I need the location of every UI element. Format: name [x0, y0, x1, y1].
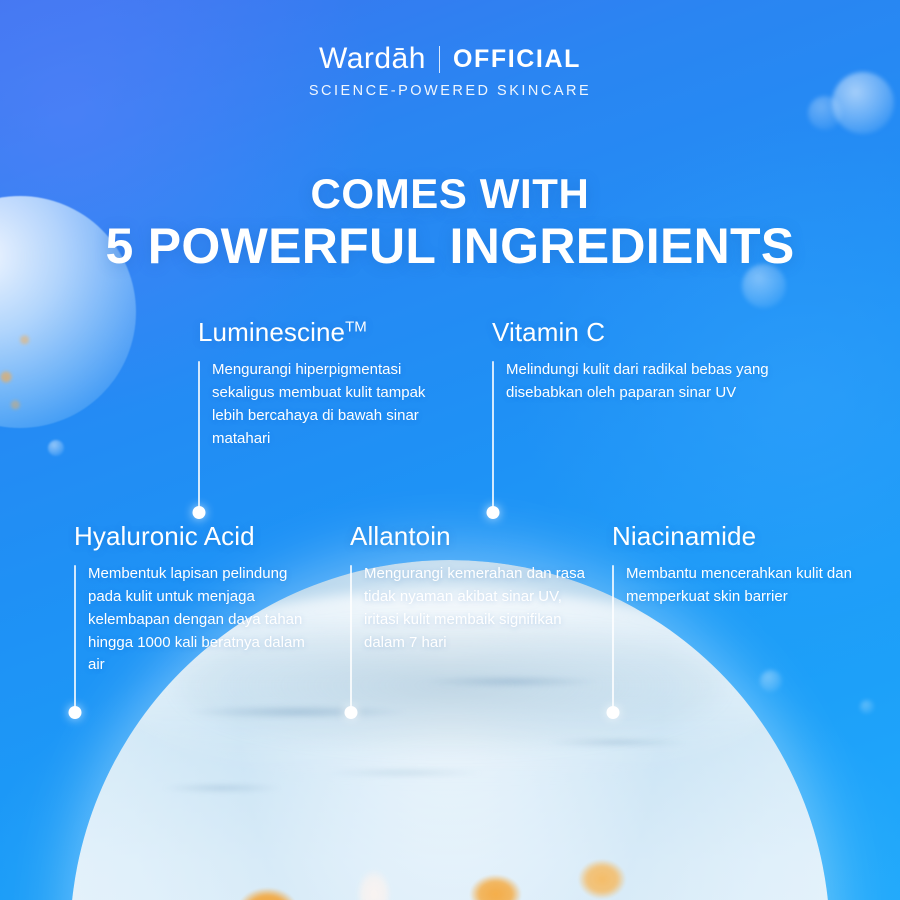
bokeh-circle-left: [48, 440, 64, 456]
ingredient-card-vitamin-c: Vitamin C Melindungi kulit dari radikal …: [492, 318, 778, 405]
ingredient-description-allantoin: Mengurangi kemerahan dan rasa tidak nyam…: [364, 563, 586, 654]
ingredient-description-luminescine: Mengurangi hiperpigmentasi sekaligus mem…: [212, 359, 448, 450]
ingredient-name-luminescine: Luminescine: [198, 317, 345, 347]
brand-logo: Wardāh OFFICIAL SCIENCE-POWERED SKINCARE: [0, 44, 900, 99]
ingredient-title-niacinamide: Niacinamide: [612, 522, 862, 551]
poster-canvas: Wardāh OFFICIAL SCIENCE-POWERED SKINCARE…: [0, 0, 900, 900]
ingredient-body-wrap-hyaluronic-acid: Membentuk lapisan pelindung pada kulit u…: [74, 563, 324, 677]
ingredient-title-allantoin: Allantoin: [350, 522, 586, 551]
brand-official-label: OFFICIAL: [453, 47, 581, 72]
connector-line-luminescine: [198, 361, 200, 507]
ingredient-card-allantoin: Allantoin Mengurangi kemerahan dan rasa …: [350, 522, 586, 654]
ingredient-title-hyaluronic-acid: Hyaluronic Acid: [74, 522, 324, 551]
ingredient-description-vitamin-c: Melindungi kulit dari radikal bebas yang…: [506, 359, 778, 405]
ingredient-description-niacinamide: Membantu mencerahkan kulit dan memperkua…: [626, 563, 862, 609]
headline-line-1: COMES WITH: [0, 172, 900, 217]
connector-line-hyaluronic-acid: [74, 565, 76, 707]
ingredient-body-wrap-luminescine: Mengurangi hiperpigmentasi sekaligus mem…: [198, 359, 448, 450]
brand-name: Wardāh: [319, 44, 426, 74]
bokeh-circle-top-right-small: [808, 96, 842, 130]
trademark-symbol: TM: [345, 318, 367, 335]
brand-logo-row: Wardāh OFFICIAL: [0, 44, 900, 74]
connector-line-allantoin: [350, 565, 352, 707]
bokeh-circle-lower-right-small: [860, 700, 874, 714]
ingredient-body-wrap-allantoin: Mengurangi kemerahan dan rasa tidak nyam…: [350, 563, 586, 654]
ingredient-title-luminescine: LuminescineTM: [198, 318, 448, 347]
ingredient-card-luminescine: LuminescineTM Mengurangi hiperpigmentasi…: [198, 318, 448, 450]
headline-line-2: 5 POWERFUL INGREDIENTS: [0, 219, 900, 274]
ingredient-title-vitamin-c: Vitamin C: [492, 318, 778, 347]
ingredient-body-wrap-vitamin-c: Melindungi kulit dari radikal bebas yang…: [492, 359, 778, 405]
ingredient-body-wrap-niacinamide: Membantu mencerahkan kulit dan memperkua…: [612, 563, 862, 609]
connector-line-vitamin-c: [492, 361, 494, 507]
ingredient-card-hyaluronic-acid: Hyaluronic Acid Membentuk lapisan pelind…: [74, 522, 324, 677]
brand-divider: [439, 46, 440, 73]
ingredient-description-hyaluronic-acid: Membentuk lapisan pelindung pada kulit u…: [88, 563, 324, 677]
connector-line-niacinamide: [612, 565, 614, 707]
headline-block: COMES WITH 5 POWERFUL INGREDIENTS: [0, 172, 900, 274]
brand-tagline: SCIENCE-POWERED SKINCARE: [0, 83, 900, 99]
ingredient-card-niacinamide: Niacinamide Membantu mencerahkan kulit d…: [612, 522, 862, 609]
